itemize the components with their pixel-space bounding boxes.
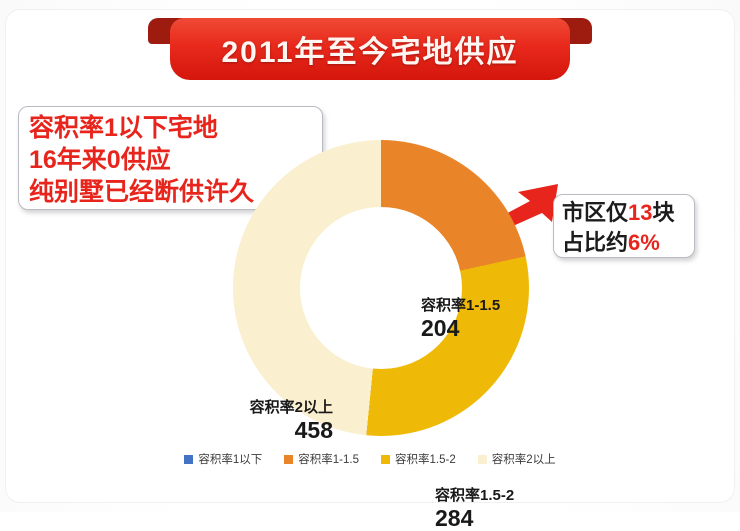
legend-label-1: 容积率1-1.5 <box>298 451 359 467</box>
callout-right-line-2-prefix: 占比约 <box>562 230 628 255</box>
callout-right: 市区仅13块 占比约6% <box>553 194 695 258</box>
legend-label-3: 容积率2以上 <box>492 451 556 467</box>
donut-chart: 容积率1-1.5 204 容积率1.5-2 284 容积率2以上 458 <box>203 140 543 440</box>
slice-label-cream-category: 容积率2以上 <box>173 398 333 417</box>
legend-swatch-icon-2 <box>381 455 390 464</box>
callout-right-line-1-prefix: 市区仅 <box>562 200 628 225</box>
page-title: 2011年至今宅地供应 <box>221 27 518 71</box>
slice-label-gold: 容积率1.5-2 284 <box>435 486 514 531</box>
slice-label-orange: 容积率1-1.5 204 <box>421 296 500 341</box>
slice-label-orange-category: 容积率1-1.5 <box>421 296 500 315</box>
callout-right-line-1: 市区仅13块 <box>562 198 694 228</box>
slice-label-cream: 容积率2以上 458 <box>173 398 333 443</box>
legend-label-0: 容积率1以下 <box>198 451 262 467</box>
legend-label-2: 容积率1.5-2 <box>395 451 456 467</box>
callout-right-line-2: 占比约6% <box>562 228 694 258</box>
slice-label-cream-value: 458 <box>173 417 333 443</box>
legend-item-0[interactable]: 容积率1以下 <box>184 451 262 467</box>
slice-label-gold-category: 容积率1.5-2 <box>435 486 514 505</box>
banner-body: 2011年至今宅地供应 <box>170 18 570 80</box>
legend-item-1[interactable]: 容积率1-1.5 <box>284 451 359 467</box>
slice-label-gold-value: 284 <box>435 505 514 531</box>
chart-legend: 容积率1以下 容积率1-1.5 容积率1.5-2 容积率2以上 <box>0 448 740 470</box>
callout-right-count: 13 <box>628 200 652 225</box>
title-banner: 2011年至今宅地供应 <box>148 8 592 82</box>
legend-item-3[interactable]: 容积率2以上 <box>478 451 556 467</box>
donut-ring <box>233 140 529 436</box>
legend-swatch-icon-1 <box>284 455 293 464</box>
legend-swatch-icon-0 <box>184 455 193 464</box>
slice-label-orange-value: 204 <box>421 315 500 341</box>
callout-right-percent: 6% <box>628 230 660 255</box>
legend-swatch-icon-3 <box>478 455 487 464</box>
callout-right-line-1-suffix: 块 <box>653 200 675 225</box>
legend-item-2[interactable]: 容积率1.5-2 <box>381 451 456 467</box>
